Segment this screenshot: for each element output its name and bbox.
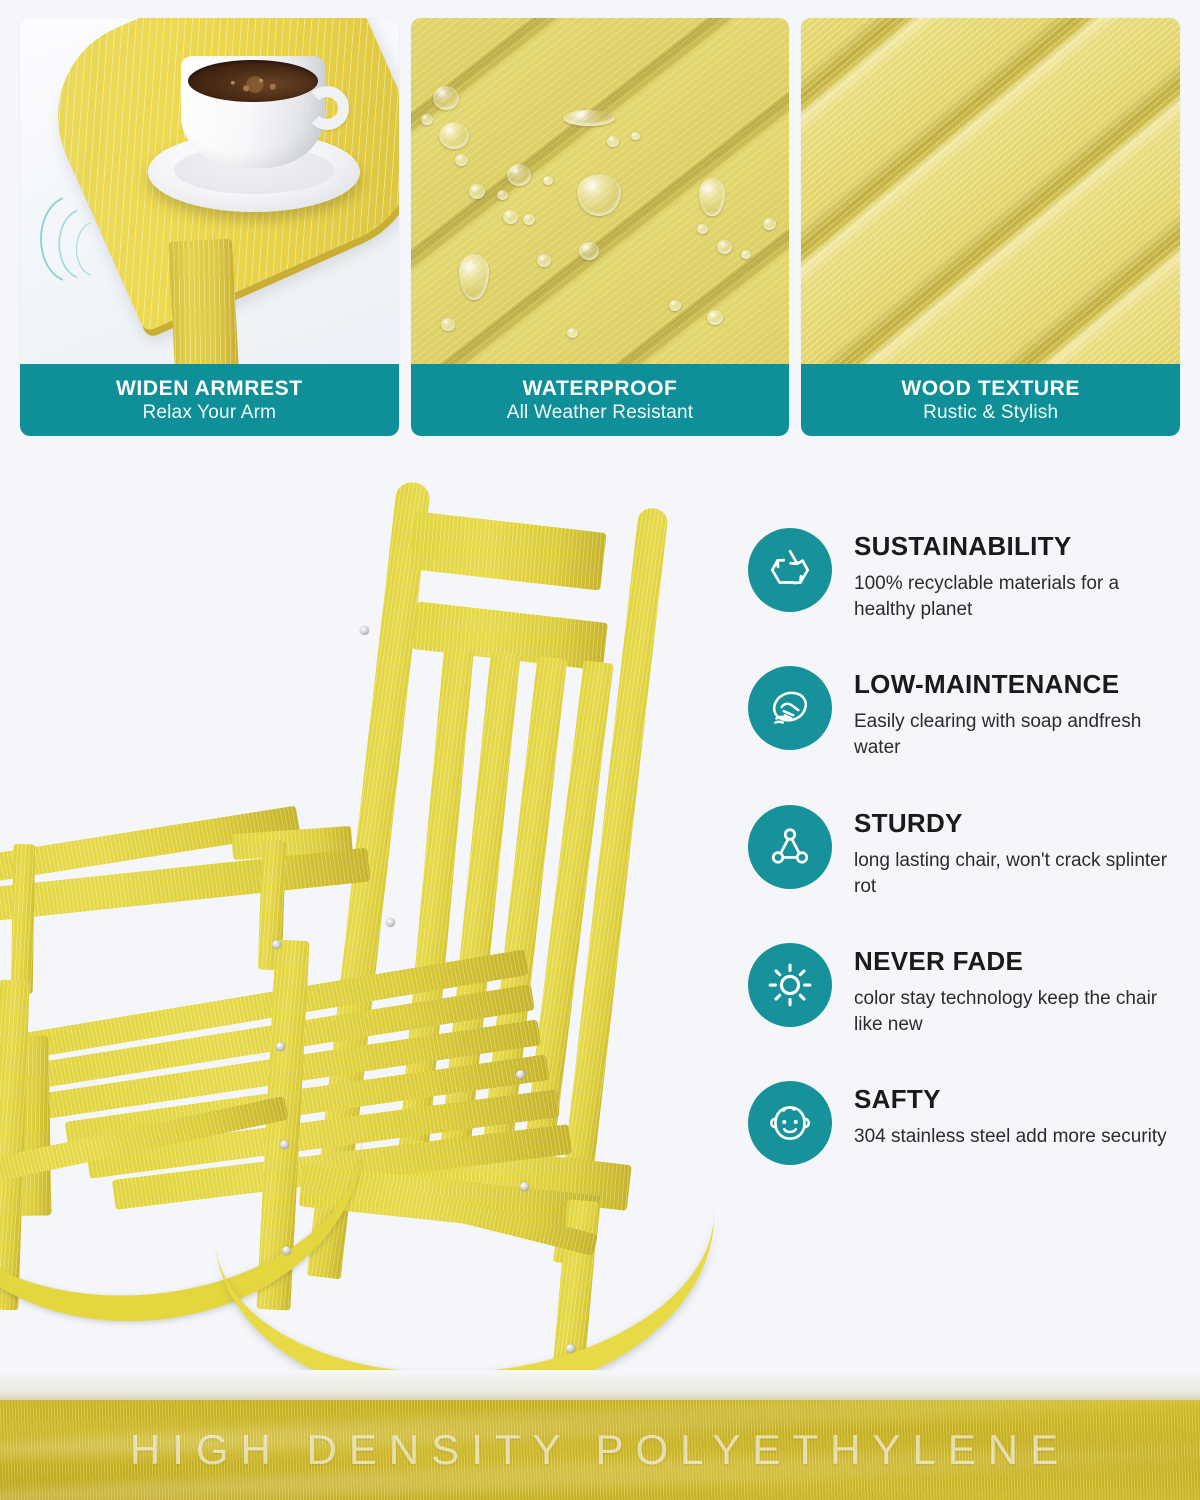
feature-description: color stay technology keep the chair lik… xyxy=(854,986,1184,1038)
feature-item-sustainability[interactable]: SUSTAINABILITY 100% recyclable materials… xyxy=(748,528,1188,623)
panel-photo-waterproof xyxy=(411,18,790,364)
feature-text: NEVER FADE color stay technology keep th… xyxy=(854,943,1184,1038)
water-droplet xyxy=(433,86,459,110)
water-droplet xyxy=(741,250,751,259)
panel-subtitle: Rustic & Stylish xyxy=(923,402,1058,424)
coffee-liquid xyxy=(188,60,318,102)
chair-screw xyxy=(280,1140,289,1149)
motion-arcs-icon xyxy=(40,196,110,288)
feature-panel-row: WIDEN ARMREST Relax Your Arm xyxy=(20,18,1180,436)
feature-item-low-maintenance[interactable]: LOW-MAINTENANCE Easily clearing with soa… xyxy=(748,666,1188,761)
feature-list: SUSTAINABILITY 100% recyclable materials… xyxy=(748,528,1188,1165)
triangle-nodes-icon xyxy=(748,805,832,889)
coffee-crema xyxy=(218,74,292,96)
water-droplet xyxy=(579,242,599,260)
panel-title: WOOD TEXTURE xyxy=(901,377,1080,400)
water-droplet xyxy=(421,114,433,125)
water-droplet xyxy=(607,136,619,147)
rocking-chair xyxy=(0,440,740,1370)
feature-title: STURDY xyxy=(854,809,1184,839)
chair-screw xyxy=(516,1070,525,1079)
feature-text: STURDY long lasting chair, won't crack s… xyxy=(854,805,1184,900)
feature-description: long lasting chair, won't crack splinter… xyxy=(854,848,1184,900)
hero-product-image xyxy=(0,440,740,1370)
water-droplet xyxy=(441,318,455,331)
coffee-cup-group xyxy=(148,52,363,227)
feature-item-sturdy[interactable]: STURDY long lasting chair, won't crack s… xyxy=(748,805,1188,900)
wood-texture-scene xyxy=(801,18,1180,364)
armrest-scene xyxy=(20,18,399,364)
hand-wiping-cloth-icon xyxy=(748,666,832,750)
chair-screw xyxy=(272,940,281,949)
slats-scene xyxy=(411,18,790,364)
feature-text: LOW-MAINTENANCE Easily clearing with soa… xyxy=(854,666,1184,761)
cup-handle xyxy=(305,86,349,130)
material-banner-text: HIGH DENSITY POLYETHYLENE xyxy=(130,1426,1070,1474)
water-droplet-elongated xyxy=(699,178,725,216)
feature-description: Easily clearing with soap andfresh water xyxy=(854,709,1184,761)
water-droplet xyxy=(567,328,578,338)
cup xyxy=(181,56,325,168)
panel-caption-wood-texture: WOOD TEXTURE Rustic & Stylish xyxy=(801,364,1180,436)
water-droplet xyxy=(707,310,723,325)
panel-subtitle: All Weather Resistant xyxy=(507,402,694,424)
feature-item-never-fade[interactable]: NEVER FADE color stay technology keep th… xyxy=(748,943,1188,1038)
feature-title: SAFTY xyxy=(854,1085,1167,1115)
feature-title: LOW-MAINTENANCE xyxy=(854,670,1184,700)
feature-title: SUSTAINABILITY xyxy=(854,532,1184,562)
feature-description: 304 stainless steel add more security xyxy=(854,1124,1167,1150)
banner-top-fade xyxy=(0,1372,1200,1400)
water-droplet xyxy=(631,132,640,140)
panel-waterproof[interactable]: WATERPROOF All Weather Resistant xyxy=(411,18,790,436)
armrest-support-post xyxy=(168,238,240,364)
panel-photo-wood-texture xyxy=(801,18,1180,364)
water-droplet xyxy=(455,154,468,166)
panel-caption-armrest: WIDEN ARMREST Relax Your Arm xyxy=(20,364,399,436)
chair-screw xyxy=(386,918,395,927)
chair-top-rail xyxy=(409,511,606,590)
chair-screw xyxy=(520,1182,529,1191)
chair-screw xyxy=(360,626,369,635)
recycle-icon xyxy=(748,528,832,612)
water-droplet xyxy=(503,210,518,224)
panel-widen-armrest[interactable]: WIDEN ARMREST Relax Your Arm xyxy=(20,18,399,436)
water-droplet-large xyxy=(577,174,621,216)
chair-arm-support-far xyxy=(11,844,36,994)
water-droplet xyxy=(469,184,485,199)
water-droplet xyxy=(669,300,681,311)
water-droplet xyxy=(697,224,708,234)
chair-screw xyxy=(566,1344,575,1353)
water-droplet xyxy=(523,214,535,225)
water-droplet xyxy=(717,240,732,254)
baby-face-icon xyxy=(748,1081,832,1165)
panel-title: WIDEN ARMREST xyxy=(116,377,303,400)
water-droplet xyxy=(543,176,553,185)
panel-photo-armrest xyxy=(20,18,399,364)
material-banner: HIGH DENSITY POLYETHYLENE xyxy=(0,1400,1200,1500)
water-droplet xyxy=(507,164,531,186)
feature-title: NEVER FADE xyxy=(854,947,1184,977)
panel-wood-texture[interactable]: WOOD TEXTURE Rustic & Stylish xyxy=(801,18,1180,436)
water-droplet-streak xyxy=(563,110,615,126)
water-droplet-running xyxy=(459,254,489,300)
feature-description: 100% recyclable materials for a healthy … xyxy=(854,571,1184,623)
panel-title: WATERPROOF xyxy=(523,377,678,400)
panel-subtitle: Relax Your Arm xyxy=(142,402,276,424)
feature-text: SAFTY 304 stainless steel add more secur… xyxy=(854,1081,1167,1150)
panel-caption-waterproof: WATERPROOF All Weather Resistant xyxy=(411,364,790,436)
sun-icon xyxy=(748,943,832,1027)
chair-screw xyxy=(282,1246,291,1255)
water-droplet xyxy=(763,218,776,230)
feature-item-safty[interactable]: SAFTY 304 stainless steel add more secur… xyxy=(748,1081,1188,1165)
water-droplet xyxy=(537,254,551,267)
water-droplet xyxy=(497,190,508,200)
water-droplet xyxy=(439,122,469,149)
feature-text: SUSTAINABILITY 100% recyclable materials… xyxy=(854,528,1184,623)
chair-screw xyxy=(276,1042,285,1051)
